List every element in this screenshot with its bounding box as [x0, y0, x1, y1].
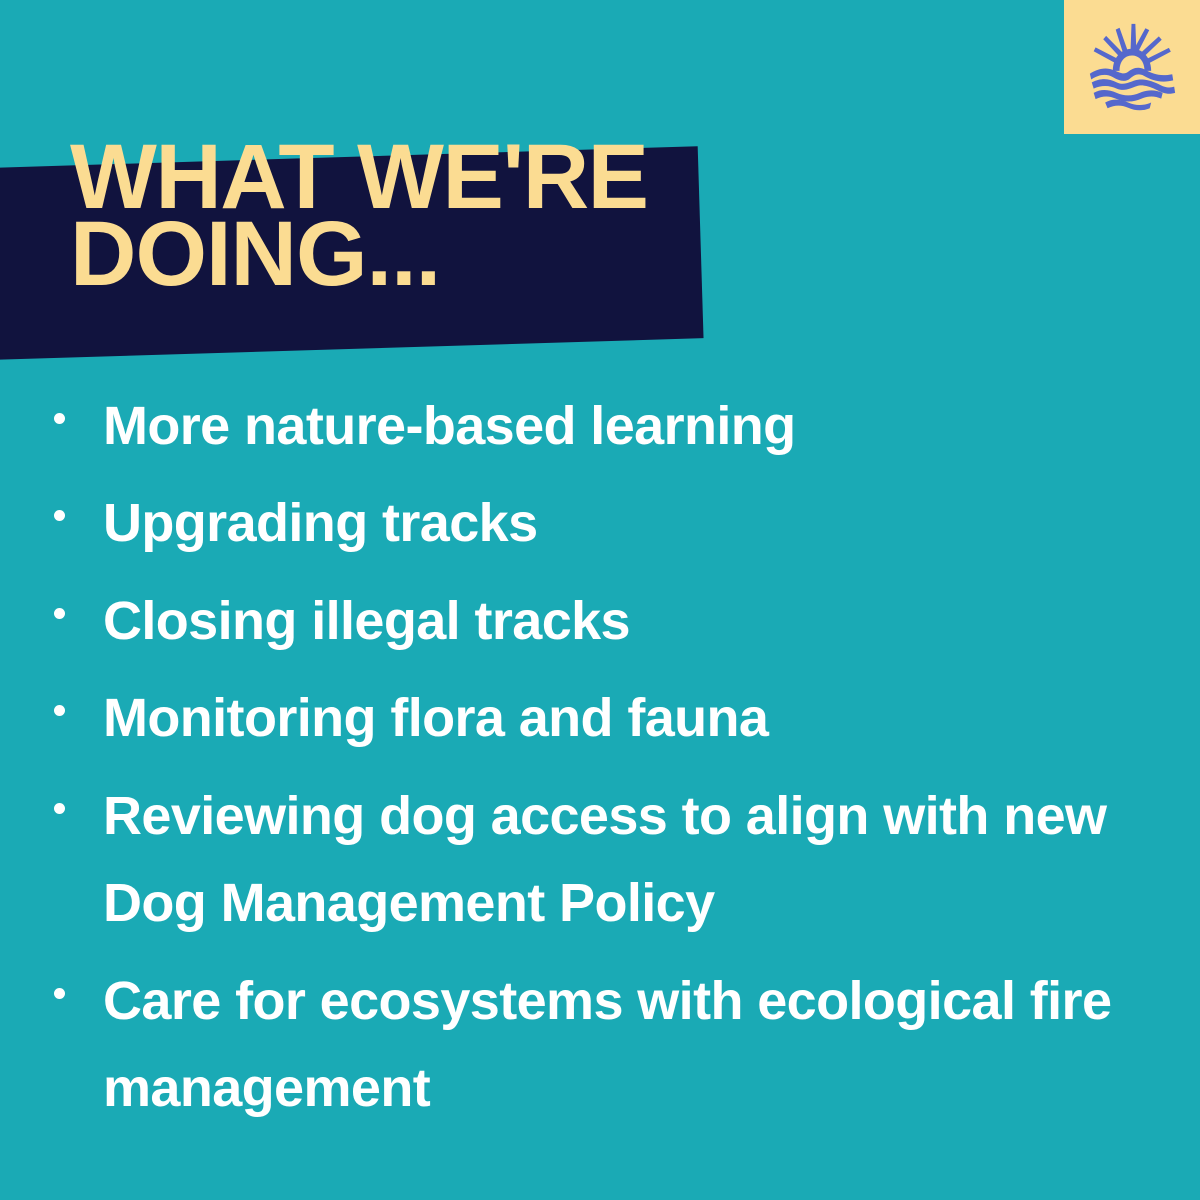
list-item: Upgrading tracks — [47, 480, 1167, 567]
list-item: Reviewing dog access to align with new D… — [47, 773, 1167, 948]
actions-bullet-list: More nature-based learning Upgrading tra… — [47, 383, 1167, 1143]
list-item-label: Reviewing dog access to align with new D… — [103, 773, 1167, 948]
list-item: More nature-based learning — [47, 383, 1167, 470]
list-item-label: Monitoring flora and fauna — [103, 675, 1167, 762]
page-title: WHAT WE'RE DOING... — [70, 139, 830, 294]
list-item: Care for ecosystems with ecological fire… — [47, 958, 1167, 1133]
list-item: Monitoring flora and fauna — [47, 675, 1167, 762]
bullet-dot-icon — [54, 803, 65, 814]
bullet-dot-icon — [54, 413, 65, 424]
bullet-dot-icon — [54, 988, 65, 999]
list-item-label: Care for ecosystems with ecological fire… — [103, 958, 1167, 1133]
social-post-canvas: { "colors": { "background_teal": "#1AAAB… — [0, 0, 1200, 1200]
bullet-dot-icon — [54, 705, 65, 716]
list-item-label: Closing illegal tracks — [103, 578, 1167, 665]
list-item-label: Upgrading tracks — [103, 480, 1167, 567]
bullet-dot-icon — [54, 510, 65, 521]
logo-badge — [1064, 0, 1200, 134]
list-item: Closing illegal tracks — [47, 578, 1167, 665]
list-item-label: More nature-based learning — [103, 383, 1167, 470]
sunrise-over-hills-and-water-icon — [1084, 21, 1180, 113]
bullet-dot-icon — [54, 608, 65, 619]
